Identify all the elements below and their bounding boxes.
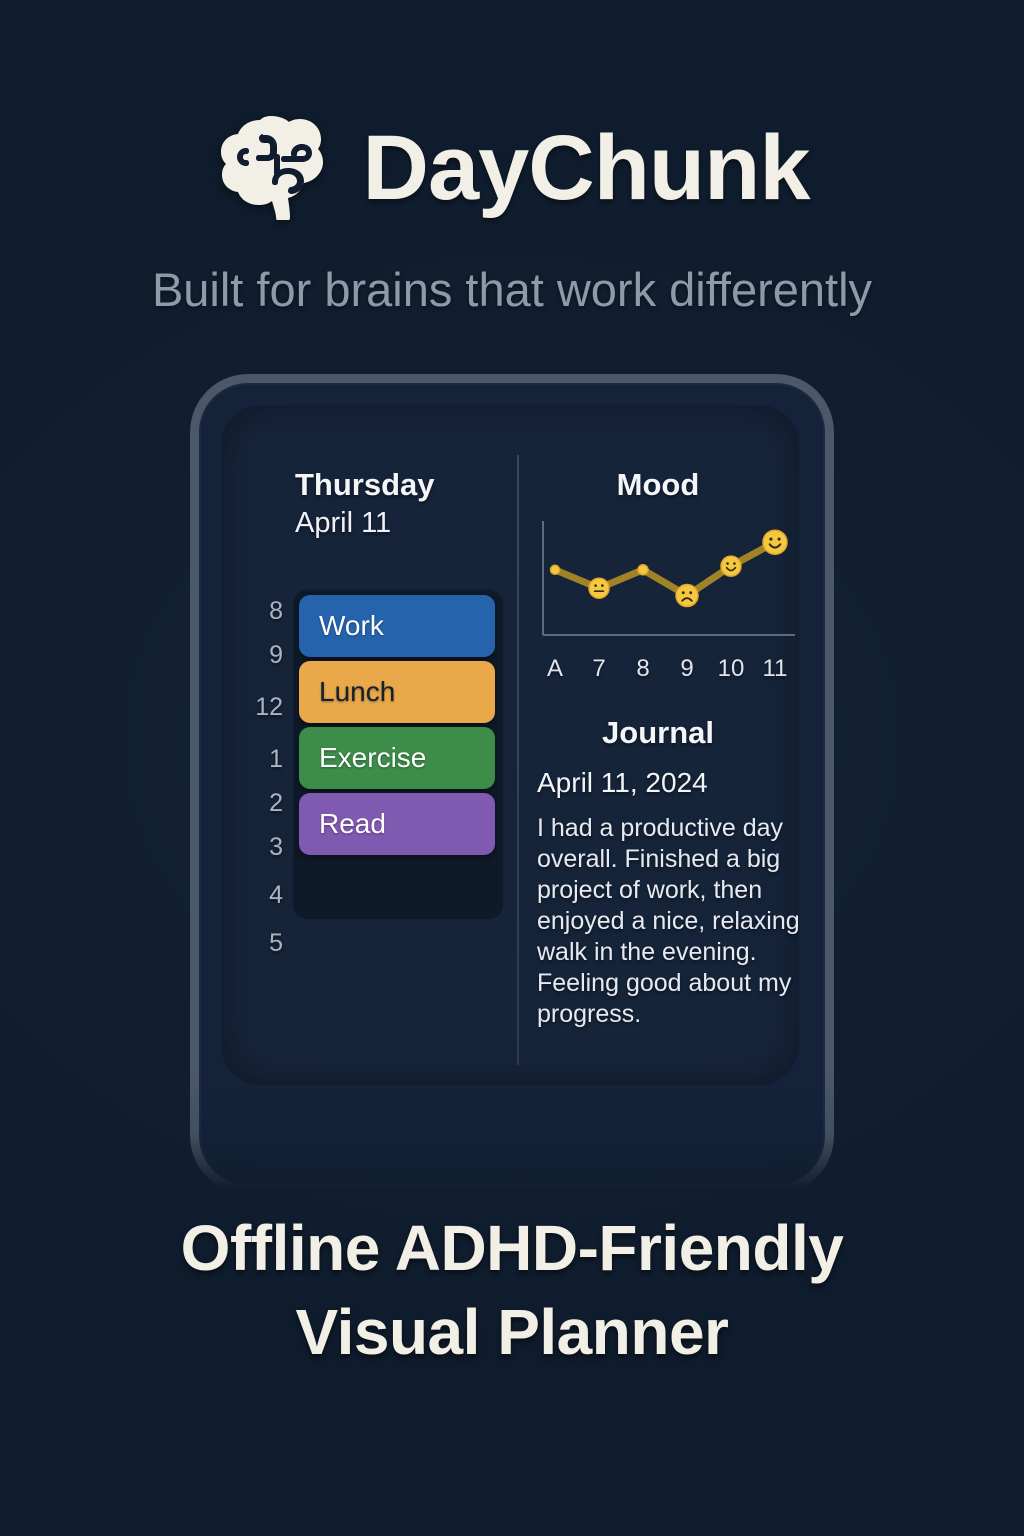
schedule-block-label: Lunch — [319, 676, 395, 708]
mood-title: Mood — [517, 467, 799, 503]
schedule-block-label: Exercise — [319, 742, 426, 774]
schedule-block-label: Read — [319, 808, 386, 840]
mood-point-8-dot[interactable] — [638, 565, 648, 575]
schedule-block-work[interactable]: Work — [299, 595, 495, 657]
hour-label-12: 12 — [255, 693, 283, 722]
schedule-panel: Thursday April 11 891212345 WorkLunchExe… — [221, 405, 517, 1085]
hour-label-9: 9 — [269, 641, 283, 670]
brand-title: DayChunk — [363, 122, 810, 214]
mood-tick-7: 7 — [592, 655, 605, 683]
phone-screen: Thursday April 11 891212345 WorkLunchExe… — [221, 405, 799, 1085]
hour-label-8: 8 — [269, 597, 283, 626]
mood-tick-11: 11 — [763, 655, 788, 683]
mood-tick-10: 10 — [718, 655, 745, 683]
schedule-block-exercise[interactable]: Exercise — [299, 727, 495, 789]
hour-label-2: 2 — [269, 789, 283, 818]
footer-headline: Offline ADHD-Friendly Visual Planner — [0, 1206, 1024, 1374]
brain-icon — [215, 116, 337, 220]
journal-date: April 11, 2024 — [537, 767, 708, 799]
hour-label-3: 3 — [269, 833, 283, 862]
mood-point-9-sad-face[interactable] — [676, 585, 698, 607]
mood-tick-A: A — [547, 655, 563, 683]
footer-line-1: Offline ADHD-Friendly — [0, 1206, 1024, 1290]
schedule-block-read[interactable]: Read — [299, 793, 495, 855]
schedule-day-label: Thursday — [295, 467, 435, 503]
brand-header: DayChunk — [0, 116, 1024, 220]
mood-point-11-happy-face[interactable] — [763, 530, 787, 554]
hour-label-1: 1 — [269, 745, 283, 774]
journal-title: Journal — [517, 715, 799, 751]
right-panel: Mood A7891011 Journal April 11, 2024 I h… — [517, 405, 799, 1085]
mood-tick-9: 9 — [680, 655, 693, 683]
phone-mockup: Thursday April 11 891212345 WorkLunchExe… — [190, 374, 834, 1194]
mood-point-10-happy-face[interactable] — [721, 556, 741, 576]
schedule-date-label: April 11 — [295, 507, 391, 540]
hour-label-5: 5 — [269, 929, 283, 958]
schedule-block-lunch[interactable]: Lunch — [299, 661, 495, 723]
mood-point-7-neutral-face[interactable] — [589, 578, 609, 598]
journal-body: I had a productive day overall. Finished… — [537, 813, 799, 1030]
hour-label-4: 4 — [269, 881, 283, 910]
mood-axis-ticks: A7891011 — [527, 655, 799, 685]
footer-line-2: Visual Planner — [0, 1290, 1024, 1374]
hour-ruler: 891212345 — [227, 589, 289, 919]
mood-tick-8: 8 — [636, 655, 649, 683]
tagline: Built for brains that work differently — [0, 262, 1024, 317]
mood-chart[interactable] — [527, 517, 799, 649]
poster-root: DayChunk Built for brains that work diff… — [0, 0, 1024, 1536]
mood-point-A-dot[interactable] — [551, 565, 560, 574]
schedule-block-label: Work — [319, 610, 384, 642]
